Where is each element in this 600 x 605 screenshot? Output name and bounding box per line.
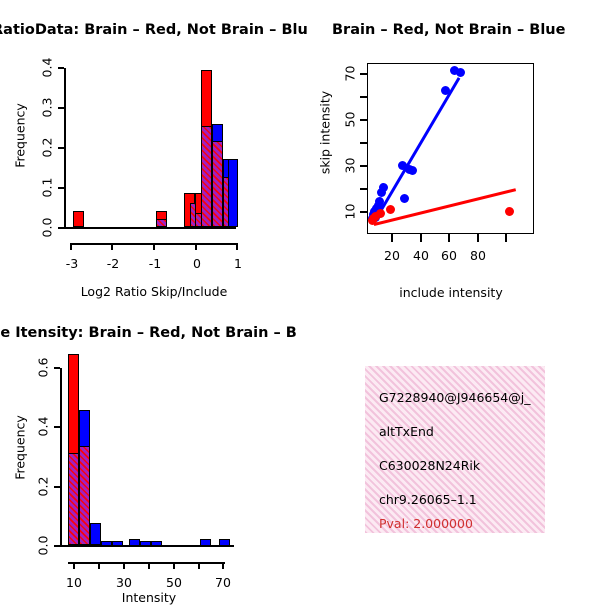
intensity-y-ticklabel-06: 0.6: [36, 348, 51, 388]
scatter-y-tick-60: [360, 96, 367, 98]
intensity-x-tick-60: [198, 562, 200, 569]
ratio-x-ticklabel-2: -1: [139, 256, 171, 271]
scatter-point-blue: [400, 194, 409, 203]
annotation-line-gene-symbol: C630028N24Rik: [379, 458, 480, 473]
ratio-histogram-yaxis: [64, 68, 66, 228]
intensity-bar-blue-9: [200, 539, 211, 546]
ratio-x-ticklabel-3: 0: [181, 256, 213, 271]
intensity-x-tick-20: [98, 562, 100, 569]
ratio-y-ticklabel-0: 0.0: [40, 208, 55, 248]
intensity-bar-blue-10: [219, 539, 230, 546]
intensity-x-tick-50: [173, 562, 175, 569]
ratio-y-tick-1: [58, 187, 64, 189]
ratio-bar-purple-5: [201, 126, 212, 227]
scatter-y-ticklabel-50: 50: [343, 100, 358, 140]
ratio-histogram-ylabel: Frequency: [13, 96, 28, 176]
ratio-histogram-panel: RatioData: Brain – Red, Not Brain – Blu …: [0, 0, 300, 300]
intensity-scatter-panel: Brain – Red, Not Brain – Blue skip inten…: [300, 0, 600, 300]
scatter-y-tick-40: [360, 142, 367, 144]
scatter-x-tick-40: [420, 234, 422, 242]
scatter-x-ticklabel-60: 60: [433, 248, 465, 263]
intensity-histogram-ylabel: Frequency: [13, 408, 28, 488]
scatter-x-tick-20: [391, 234, 393, 242]
intensity-x-tick-30: [123, 562, 125, 569]
intensity-y-ticklabel-0: 0.0: [36, 526, 51, 566]
scatter-point-red: [368, 216, 377, 225]
intensity-bar-blue-7: [140, 541, 151, 546]
intensity-y-ticklabel-02: 0.2: [36, 467, 51, 507]
intensity-bar-blue-4: [101, 541, 112, 546]
intensity-scatter-title: Brain – Red, Not Brain – Blue: [332, 22, 565, 38]
ratio-x-tick-4: [236, 243, 238, 250]
ratio-x-ticklabel-4: 1: [222, 256, 254, 271]
annotation-line-event-type: altTxEnd: [379, 424, 434, 439]
scatter-x-ticklabel-20: 20: [376, 248, 408, 263]
ratio-histogram-baseline: [64, 227, 236, 229]
intensity-bar-blue-8: [151, 541, 162, 546]
scatter-point-red: [505, 207, 514, 216]
scatter-y-tick-10: [360, 211, 367, 213]
intensity-bar-purple-1: [68, 453, 79, 545]
scatter-x-tick-60: [448, 234, 450, 242]
intensity-y-tick-02: [54, 486, 60, 488]
intensity-histogram-panel: ne Itensity: Brain – Red, Not Brain – B …: [0, 300, 300, 600]
ratio-histogram-title: RatioData: Brain – Red, Not Brain – Blu: [0, 22, 308, 38]
ratio-bar-red-1: [73, 211, 84, 227]
ratio-y-tick-4: [58, 67, 64, 69]
ratio-y-tick-3: [58, 107, 64, 109]
ratio-x-ticklabel-1: -2: [97, 256, 129, 271]
annotation-line-pval: Pval: 2.000000: [379, 516, 473, 531]
ratio-y-ticklabel-4: 0.4: [40, 48, 55, 88]
intensity-histogram-xaxis: [68, 562, 225, 564]
ratio-x-ticklabel-0: -3: [56, 256, 88, 271]
gene-annotation-box: G7228940@J946654@j_ altTxEnd C630028N24R…: [365, 366, 545, 533]
intensity-x-tick-70: [222, 562, 224, 569]
scatter-point-blue: [456, 68, 465, 77]
intensity-x-ticklabel-70: 70: [207, 575, 239, 590]
scatter-point-blue: [377, 188, 386, 197]
intensity-histogram-yaxis: [60, 368, 62, 546]
intensity-bar-blue-5: [112, 541, 123, 546]
intensity-y-tick-04: [54, 426, 60, 428]
scatter-y-tick-20: [360, 188, 367, 190]
intensity-bar-blue-6: [129, 539, 140, 546]
ratio-y-tick-2: [58, 147, 64, 149]
ratio-x-tick-3: [195, 243, 197, 250]
intensity-bar-purple-2: [79, 446, 90, 545]
scatter-y-ticklabel-30: 30: [343, 146, 358, 186]
ratio-bar-blue-8: [228, 159, 238, 227]
ratio-bar-purple-2: [156, 219, 167, 227]
scatter-y-ticklabel-10: 10: [343, 192, 358, 232]
intensity-scatter-ylabel: skip intensity: [318, 90, 333, 176]
intensity-x-tick-40: [148, 562, 150, 569]
annotation-line-probe: G7228940@J946654@j_: [379, 390, 530, 405]
intensity-y-tick-06: [54, 367, 60, 369]
intensity-x-ticklabel-30: 30: [108, 575, 140, 590]
scatter-y-tick-50: [360, 119, 367, 121]
scatter-y-tick-70: [360, 73, 367, 75]
scatter-point-blue: [408, 166, 417, 175]
intensity-x-tick-10: [73, 562, 75, 569]
intensity-histogram-xlabel: Intensity: [62, 590, 236, 605]
ratio-y-ticklabel-3: 0.3: [40, 88, 55, 128]
scatter-point-red: [386, 205, 395, 214]
scatter-x-tick-80: [477, 234, 479, 242]
ratio-x-tick-0: [70, 243, 72, 250]
ratio-x-tick-1: [111, 243, 113, 250]
ratio-y-ticklabel-2: 0.2: [40, 128, 55, 168]
intensity-x-ticklabel-10: 10: [58, 575, 90, 590]
annotation-line-locus: chr9.26065–1.1: [379, 492, 477, 507]
ratio-histogram-xlabel: Log2 Ratio Skip/Include: [64, 284, 244, 299]
intensity-y-ticklabel-04: 0.4: [36, 407, 51, 447]
annotation-panel: G7228940@J946654@j_ altTxEnd C630028N24R…: [300, 300, 600, 600]
scatter-x-ticklabel-80: 80: [462, 248, 494, 263]
intensity-scatter-xlabel: include intensity: [366, 285, 536, 300]
intensity-x-ticklabel-50: 50: [158, 575, 190, 590]
intensity-histogram-title: ne Itensity: Brain – Red, Not Brain – B: [0, 325, 297, 341]
ratio-bar-purple-6: [212, 141, 223, 227]
scatter-y-tick-30: [360, 165, 367, 167]
ratio-x-tick-2: [153, 243, 155, 250]
scatter-y-ticklabel-70: 70: [343, 54, 358, 94]
intensity-bar-blue-3: [90, 523, 101, 545]
scatter-point-blue: [441, 86, 450, 95]
scatter-x-tick-100: [505, 234, 507, 242]
ratio-y-ticklabel-1: 0.1: [40, 168, 55, 208]
